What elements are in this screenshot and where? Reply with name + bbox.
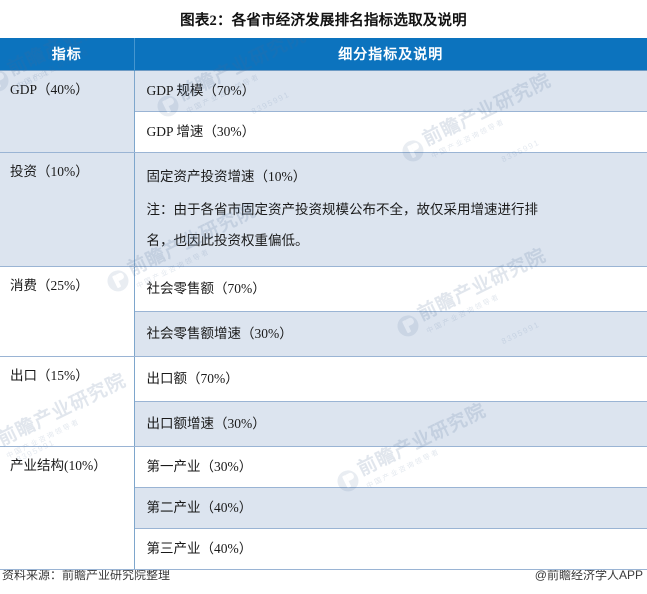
metric-cell-industry-structure: 产业结构(10%） (0, 447, 134, 570)
metric-cell-consumption: 消费（25%） (0, 267, 134, 357)
detail-cell-retail-growth: 社会零售额增速（30%） (134, 312, 647, 357)
detail-cell-secondary-industry: 第二产业（40%） (134, 488, 647, 529)
detail-cell-gdp-growth: GDP 增速（30%） (134, 112, 647, 153)
header-row: 指标 细分指标及说明 (0, 38, 647, 71)
header-cell-metric: 指标 (0, 38, 134, 71)
figure-container: 图表2：各省市经济发展排名指标选取及说明 指标 细分指标及说明 GDP（40%）… (0, 0, 647, 594)
table-row: 投资（10%） 固定资产投资增速（10%） 注：由于各省市固定资产投资规模公布不… (0, 153, 647, 267)
detail-cell-export-value: 出口额（70%） (134, 357, 647, 402)
detail-cell-export-growth: 出口额增速（30%） (134, 402, 647, 447)
detail-cell-retail-total: 社会零售额（70%） (134, 267, 647, 312)
detail-cell-gdp-scale: GDP 规模（70%） (134, 71, 647, 112)
table-row: GDP（40%） GDP 规模（70%） (0, 71, 647, 112)
table-row: 产业结构(10%） 第一产业（30%） (0, 447, 647, 488)
table-row: 出口（15%） 出口额（70%） (0, 357, 647, 402)
metric-cell-investment: 投资（10%） (0, 153, 134, 267)
table-body: GDP（40%） GDP 规模（70%） GDP 增速（30%） 投资（10%）… (0, 71, 647, 570)
table-zone: 指标 细分指标及说明 GDP（40%） GDP 规模（70%） GDP 增速（3… (0, 38, 647, 570)
table-header: 指标 细分指标及说明 (0, 38, 647, 71)
figure-title: 图表2：各省市经济发展排名指标选取及说明 (0, 0, 647, 38)
metric-cell-gdp: GDP（40%） (0, 71, 134, 153)
detail-cell-primary-industry: 第一产业（30%） (134, 447, 647, 488)
investment-note-line-1: 注：由于各省市固定资产投资规模公布不全，故仅采用增速进行排 (147, 200, 647, 221)
indicator-table: 指标 细分指标及说明 GDP（40%） GDP 规模（70%） GDP 增速（3… (0, 38, 647, 570)
table-row: 消费（25%） 社会零售额（70%） (0, 267, 647, 312)
metric-cell-export: 出口（15%） (0, 357, 134, 447)
investment-indicator-text: 固定资产投资增速（10%） (147, 167, 647, 188)
header-cell-detail: 细分指标及说明 (134, 38, 647, 71)
detail-cell-investment: 固定资产投资增速（10%） 注：由于各省市固定资产投资规模公布不全，故仅采用增速… (134, 153, 647, 267)
investment-note-line-2: 名，也因此投资权重偏低。 (147, 231, 647, 252)
detail-cell-tertiary-industry: 第三产业（40%） (134, 529, 647, 570)
